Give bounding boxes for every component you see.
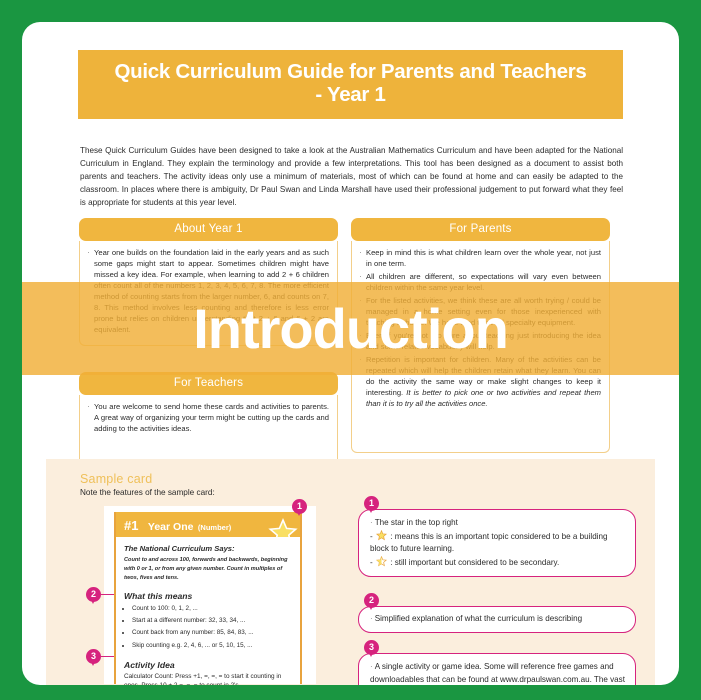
card-activity-text: Calculator Count: Press +1, =, =, = to s… xyxy=(124,672,292,685)
marker-3-card: 3 xyxy=(86,649,101,664)
marker-1-card: 1 xyxy=(292,499,307,514)
marker-2-card: 2 xyxy=(86,587,101,602)
callout-3-line1: A single activity or game idea. Some wil… xyxy=(370,661,625,685)
marker-3-callout: 3 xyxy=(364,640,379,655)
marker-3-leader xyxy=(101,656,114,657)
for-parents-item: Keep in mind this is what children learn… xyxy=(358,247,601,269)
marker-2-leader xyxy=(101,594,114,595)
callout-1-line3: - : still important but considered to be… xyxy=(370,556,625,570)
example-card: #1 Year One (Number) The National Curric… xyxy=(104,506,316,684)
sample-card-note: Note the features of the sample card: xyxy=(80,488,215,497)
introduction-overlay-band xyxy=(22,282,679,375)
star-icon xyxy=(254,512,300,537)
marker-1-callout: 1 xyxy=(364,496,379,511)
for-parents-heading: For Parents xyxy=(351,218,610,241)
card-means-item: Count to 100: 0, 1, 2, ... xyxy=(132,603,294,615)
intro-paragraph: These Quick Curriculum Guides have been … xyxy=(80,144,623,210)
callout-1-line1: The star in the top right xyxy=(370,517,625,530)
page-title-line2: - Year 1 xyxy=(88,84,613,107)
card-means-heading: What this means xyxy=(124,591,300,601)
page-title-line1: Quick Curriculum Guide for Parents and T… xyxy=(88,61,613,84)
sample-card-title: Sample card xyxy=(80,472,152,486)
for-teachers-heading: For Teachers xyxy=(79,372,338,395)
callout-1: The star in the top right - : means this… xyxy=(358,509,636,577)
card-activity-heading: Activity Idea xyxy=(124,660,300,670)
star-half-icon xyxy=(376,556,387,567)
card-means-item: Count back from any number: 85, 84, 83, … xyxy=(132,627,294,639)
for-teachers-item: You are welcome to send home these cards… xyxy=(86,401,329,434)
callout-3: A single activity or game idea. Some wil… xyxy=(358,653,636,685)
card-nc-text: Count to and across 100, forwards and ba… xyxy=(124,556,290,583)
marker-2-callout: 2 xyxy=(364,593,379,608)
callout-1-line2: - : means this is an important topic con… xyxy=(370,530,625,556)
sample-card-section: Sample card Note the features of the sam… xyxy=(46,459,655,685)
card-means-item: Start at a different number: 32, 33, 34,… xyxy=(132,615,294,627)
document-title-banner: Quick Curriculum Guide for Parents and T… xyxy=(78,50,623,119)
star-filled-icon xyxy=(376,530,387,541)
callout-2: Simplified explanation of what the curri… xyxy=(358,606,636,633)
example-card-inner: #1 Year One (Number) The National Curric… xyxy=(114,512,302,684)
card-strand-label: (Number) xyxy=(198,523,231,532)
card-means-list: Count to 100: 0, 1, 2, ... Start at a di… xyxy=(132,603,294,652)
card-means-item: Skip counting e.g. 2, 4, 6, ... or 5, 10… xyxy=(132,640,294,652)
about-year-heading: About Year 1 xyxy=(79,218,338,241)
callout-2-line1: Simplified explanation of what the curri… xyxy=(370,613,625,626)
example-card-header: #1 Year One (Number) xyxy=(116,512,300,537)
card-number: #1 xyxy=(124,518,138,533)
card-nc-heading: The National Curriculum Says: xyxy=(124,544,300,553)
card-year-label: Year One xyxy=(148,521,194,533)
